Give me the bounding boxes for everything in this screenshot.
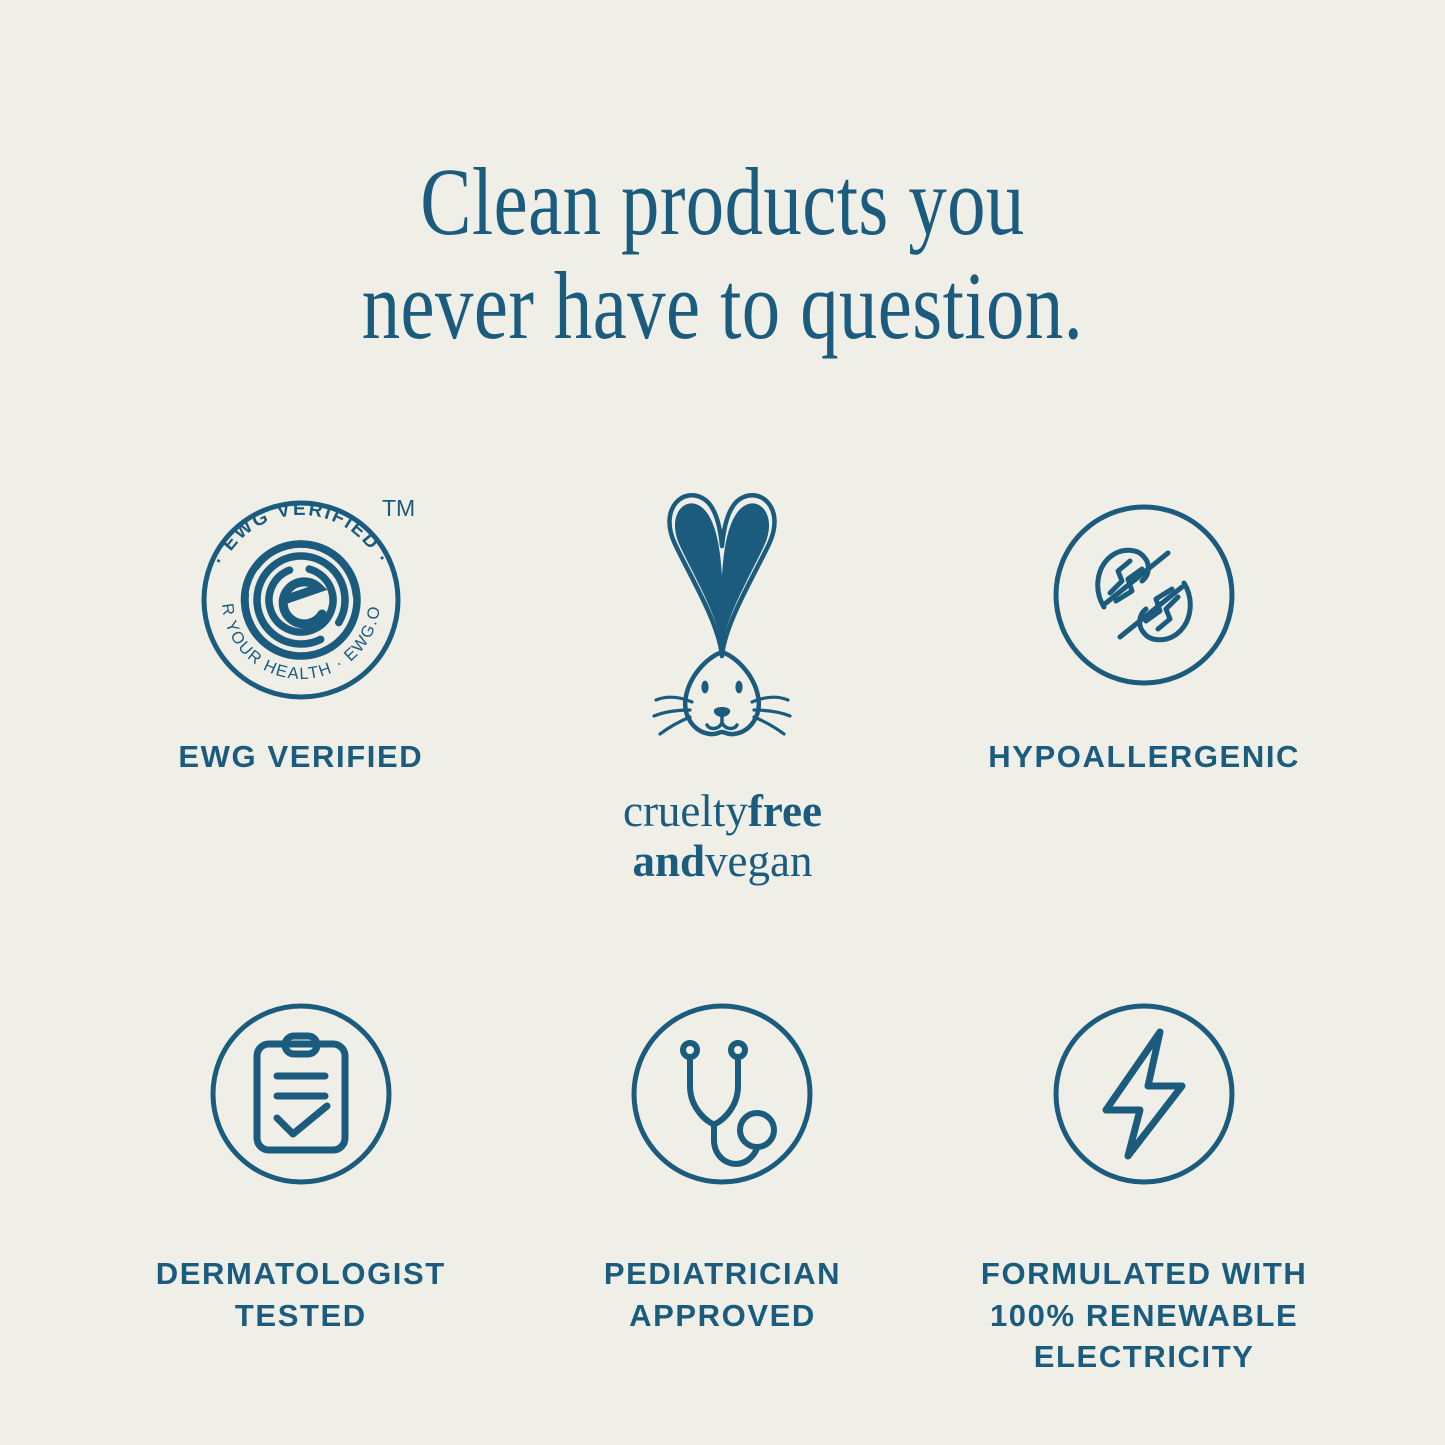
badge-hypoallergenic: HYPOALLERGENIC <box>933 480 1355 887</box>
badge-label: FORMULATED WITH 100% RENEWABLE ELECTRICI… <box>981 1253 1307 1379</box>
badge-label: HYPOALLERGENIC <box>988 736 1300 778</box>
wordmark-and: and <box>632 836 705 886</box>
wordmark-vegan: vegan <box>705 836 812 886</box>
leaping-bunny-heart-ears-icon <box>602 480 842 780</box>
two-feathers-circle-icon <box>1044 480 1244 710</box>
badge-cruelty-free-and-vegan: crueltyfree andvegan <box>512 480 934 887</box>
headline-line-1: Clean products you <box>145 150 1301 254</box>
trademark-mark: TM <box>382 495 415 521</box>
badge-ewg-verified: · EWG VERIFIED · FOR YOUR HEALTH · EWG.O… <box>90 480 512 887</box>
badge-pediatrician-approved: PEDIATRICIAN APPROVED <box>512 979 934 1379</box>
stethoscope-circle-icon <box>622 979 822 1209</box>
badge-dermatologist-tested: DERMATOLOGIST TESTED <box>90 979 512 1379</box>
lightning-bolt-circle-icon <box>1044 979 1244 1209</box>
clipboard-checkmark-circle-icon <box>201 979 401 1209</box>
cruelty-free-wordmark: crueltyfree andvegan <box>623 786 822 887</box>
certification-badge-grid: · EWG VERIFIED · FOR YOUR HEALTH · EWG.O… <box>90 480 1355 1378</box>
badge-label: PEDIATRICIAN APPROVED <box>604 1253 841 1337</box>
wordmark-free: free <box>748 786 822 836</box>
ewg-verified-seal-icon: · EWG VERIFIED · FOR YOUR HEALTH · EWG.O… <box>186 480 416 710</box>
clean-products-infographic: Clean products you never have to questio… <box>0 0 1445 1445</box>
headline-line-2: never have to question. <box>145 254 1301 358</box>
page-title: Clean products you never have to questio… <box>145 150 1301 357</box>
wordmark-cruelty: cruelty <box>623 786 748 836</box>
badge-renewable-electricity: FORMULATED WITH 100% RENEWABLE ELECTRICI… <box>933 979 1355 1379</box>
badge-label: EWG VERIFIED <box>178 736 423 778</box>
badge-label: DERMATOLOGIST TESTED <box>156 1253 446 1337</box>
